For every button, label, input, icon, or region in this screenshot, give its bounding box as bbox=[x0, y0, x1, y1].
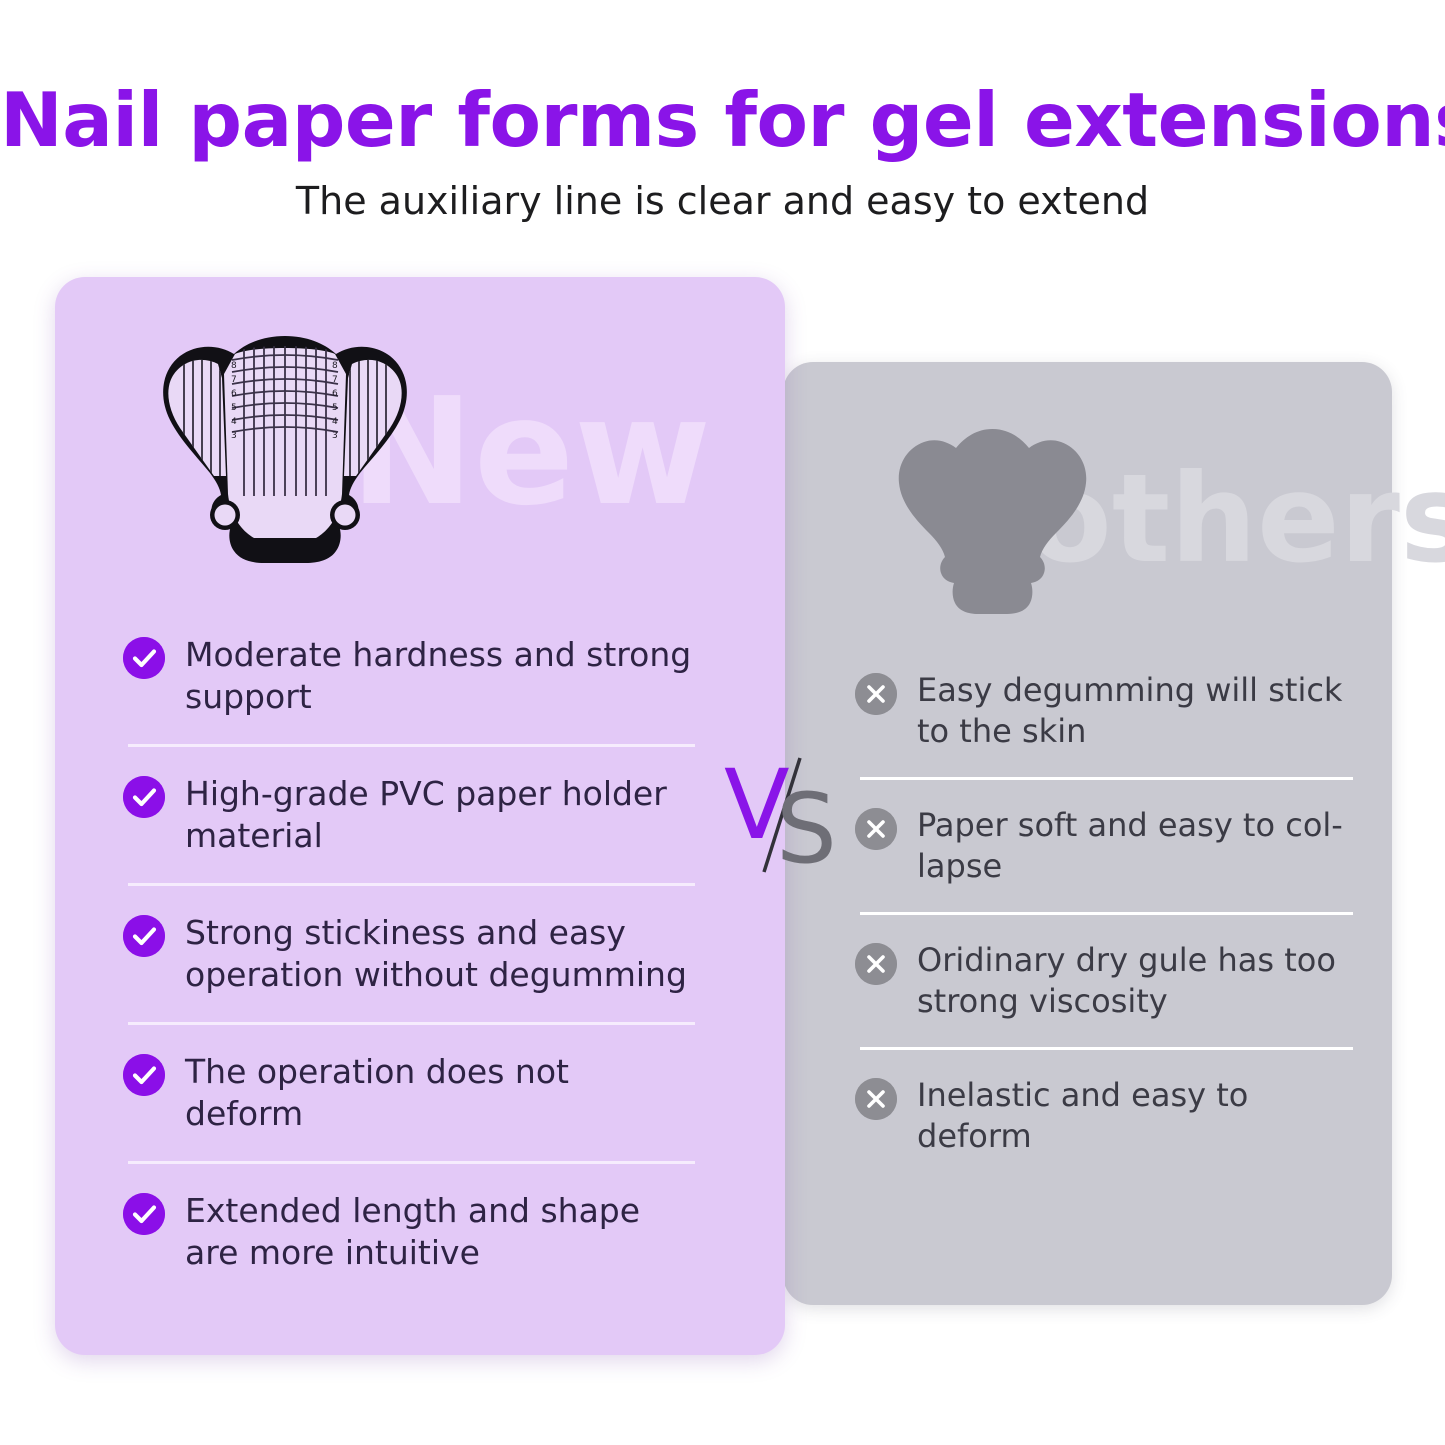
cross-icon bbox=[855, 808, 897, 850]
list-divider bbox=[128, 744, 695, 747]
list-item: Inelastic and easy to deform bbox=[855, 1075, 1355, 1157]
page-title: Nail paper forms for gel extensions bbox=[0, 0, 1445, 166]
svg-text:3: 3 bbox=[231, 431, 237, 441]
nail-form-silhouette-icon bbox=[885, 415, 1100, 620]
feature-label: Extended length and shape are more intui… bbox=[185, 1190, 695, 1274]
feature-label: Strong stickiness and easy operation wit… bbox=[185, 912, 695, 996]
list-divider bbox=[128, 883, 695, 886]
svg-text:7: 7 bbox=[231, 375, 237, 385]
svg-text:5: 5 bbox=[231, 403, 237, 413]
list-item: High-grade PVC paper holder material bbox=[123, 773, 695, 857]
svg-text:8: 8 bbox=[332, 361, 338, 371]
cross-icon bbox=[855, 673, 897, 715]
nail-form-product-icon: 8 7 6 5 4 3 8 7 6 5 4 3 bbox=[140, 318, 430, 586]
list-item: Strong stickiness and easy operation wit… bbox=[123, 912, 695, 996]
cross-icon bbox=[855, 943, 897, 985]
svg-text:4: 4 bbox=[332, 417, 338, 427]
list-item: The operation does not deform bbox=[123, 1051, 695, 1135]
page-subtitle: The auxiliary line is clear and easy to … bbox=[0, 166, 1445, 224]
list-divider bbox=[128, 1161, 695, 1164]
check-icon bbox=[123, 637, 165, 679]
feature-list-others: Easy degumming will stick to the skin Pa… bbox=[855, 670, 1355, 1157]
svg-text:5: 5 bbox=[332, 403, 338, 413]
feature-label: Oridinary dry gule has too strong viscos… bbox=[917, 940, 1355, 1022]
cross-icon bbox=[855, 1078, 897, 1120]
list-item: Extended length and shape are more intui… bbox=[123, 1190, 695, 1274]
svg-text:6: 6 bbox=[231, 389, 237, 399]
svg-text:7: 7 bbox=[332, 375, 338, 385]
feature-label: The operation does not deform bbox=[185, 1051, 695, 1135]
list-divider bbox=[128, 1022, 695, 1025]
feature-label: Easy degumming will stick to the skin bbox=[917, 670, 1355, 752]
versus-badge: V S bbox=[716, 750, 856, 880]
feature-list-new: Moderate hardness and strong support Hig… bbox=[123, 634, 695, 1274]
infographic-canvas: Nail paper forms for gel extensions The … bbox=[0, 0, 1445, 1445]
check-icon bbox=[123, 1054, 165, 1096]
svg-text:4: 4 bbox=[231, 417, 237, 427]
list-divider bbox=[860, 1047, 1353, 1050]
feature-label: Paper soft and easy to col-lapse bbox=[917, 805, 1355, 887]
header: Nail paper forms for gel extensions The … bbox=[0, 0, 1445, 224]
list-item: Oridinary dry gule has too strong viscos… bbox=[855, 940, 1355, 1022]
list-item: Moderate hardness and strong support bbox=[123, 634, 695, 718]
list-divider bbox=[860, 912, 1353, 915]
svg-text:8: 8 bbox=[231, 361, 237, 371]
feature-label: High-grade PVC paper holder material bbox=[185, 773, 695, 857]
svg-text:3: 3 bbox=[332, 431, 338, 441]
list-divider bbox=[860, 777, 1353, 780]
feature-label: Inelastic and easy to deform bbox=[917, 1075, 1355, 1157]
feature-label: Moderate hardness and strong support bbox=[185, 634, 695, 718]
list-item: Paper soft and easy to col-lapse bbox=[855, 805, 1355, 887]
svg-text:S: S bbox=[776, 773, 837, 880]
svg-text:6: 6 bbox=[332, 389, 338, 399]
check-icon bbox=[123, 776, 165, 818]
check-icon bbox=[123, 1193, 165, 1235]
list-item: Easy degumming will stick to the skin bbox=[855, 670, 1355, 752]
check-icon bbox=[123, 915, 165, 957]
